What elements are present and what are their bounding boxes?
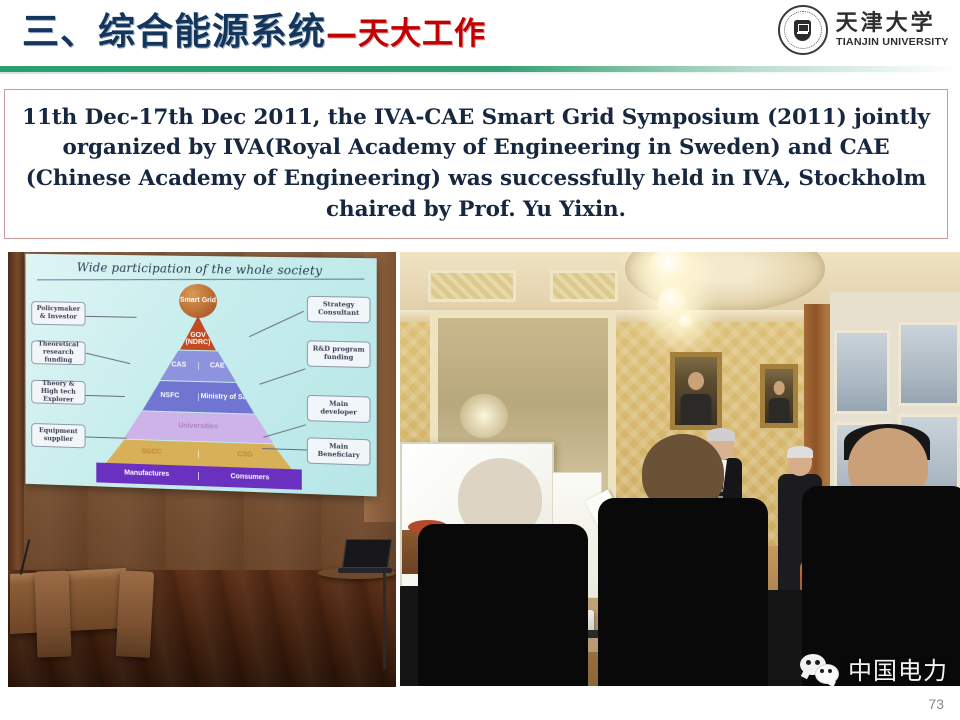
watermark-text: 中国电力 [848, 651, 948, 686]
callout-main-beneficiary: Main Beneficiary [307, 437, 371, 465]
wechat-watermark: 中国电力 [800, 651, 948, 686]
callout-main-developer: Main developer [307, 395, 371, 423]
portrait-body [680, 394, 711, 425]
connector-line [249, 311, 304, 337]
symposium-hall-scene [400, 252, 960, 686]
tier-label: CAE [198, 362, 236, 370]
university-seal-icon [778, 5, 828, 55]
logo-name-en: TIANJIN UNIVERSITY [836, 37, 949, 48]
chair [35, 570, 72, 657]
tier-label: SGCC [106, 447, 198, 457]
window-pane [898, 322, 960, 406]
person-hair [787, 446, 813, 458]
tier-label: GOV (NDRC) [180, 331, 216, 346]
laptop-stand-leg [383, 573, 386, 669]
tier-label: Universities [124, 421, 274, 433]
mirrored-chandelier-reflection [460, 394, 508, 438]
connector-line [86, 436, 127, 438]
wechat-icon [800, 654, 840, 684]
slide-heading: Wide participation of the whole society [31, 258, 370, 279]
callout-equipment-supplier: Equipment supplier [31, 423, 85, 448]
caption-box: 11th Dec-17th Dec 2011, the IVA-CAE Smar… [4, 89, 948, 239]
lecture-room-scene: Wide participation of the whole society … [8, 252, 396, 687]
connector-line [263, 424, 306, 437]
connector-line [86, 353, 130, 364]
logo-name-cn: 天津大学 [836, 12, 946, 34]
callout-theory-explorer: Theory & High tech Explorer [31, 380, 85, 405]
portrait-body [769, 398, 790, 423]
photo-row: Wide participation of the whole society … [0, 252, 960, 688]
pyramid-tier-academies: CAS CAE [160, 350, 236, 382]
chair [116, 570, 154, 658]
audience-member [418, 524, 588, 686]
window-pane [834, 330, 890, 414]
wechat-eye [806, 660, 811, 665]
callout-strategy-consultant: Strategy Consultant [307, 296, 371, 324]
caption-text: 11th Dec-17th Dec 2011, the IVA-CAE Smar… [5, 103, 947, 225]
tier-label: CAS [160, 361, 198, 369]
connector-line [260, 368, 306, 384]
tier-label: CSG [198, 450, 291, 460]
page-title: 三、综合能源系统—天大工作 [22, 6, 486, 60]
page-title-main: 三、综合能源系统 [22, 10, 326, 53]
callout-rd-program-funding: R&D program funding [307, 340, 371, 368]
wall-portrait [670, 352, 722, 430]
tier-label: Manufactures [96, 469, 198, 480]
wall-molding-panel [428, 270, 516, 302]
pyramid-tier-funding: NSFC Ministry of S&T [142, 381, 254, 414]
tier-label: NSFC [142, 392, 198, 401]
wall-molding-panel [550, 270, 618, 302]
tier-label: Ministry of S&T [198, 393, 254, 402]
page-number: 73 [928, 696, 944, 712]
wechat-eye [828, 669, 832, 673]
projected-slide: Wide participation of the whole society … [25, 254, 376, 497]
smart-grid-node: Smart Grid [179, 284, 217, 319]
projection-screen: Wide participation of the whole society … [25, 254, 376, 497]
logo-text: 天津大学 TIANJIN UNIVERSITY [836, 12, 946, 48]
page-title-sub: —天大工作 [326, 16, 486, 52]
pyramid-tier-gov: GOV (NDRC) [180, 316, 216, 351]
photo-lecture-room: Wide participation of the whole society … [8, 252, 396, 687]
photo-symposium-hall [400, 252, 960, 686]
portrait-face [688, 372, 704, 390]
header-divider-shadow [0, 72, 960, 74]
wechat-bubble-small [815, 664, 839, 684]
pyramid-diagram: Smart Grid GOV (NDRC) CAS CAE NSFC Minis… [25, 279, 376, 493]
chandelier-light [678, 314, 692, 330]
pyramid-tier-universities: Universities [124, 411, 274, 443]
callout-theoretical-funding: Theoretical research funding [31, 340, 85, 365]
audience-member [598, 498, 768, 686]
tier-label: Consumers [198, 472, 301, 483]
speaker-hair [707, 428, 735, 441]
wechat-eye [820, 669, 824, 673]
wechat-eye [815, 660, 820, 665]
connector-line [86, 316, 137, 318]
slide-header: 三、综合能源系统—天大工作 天津大学 TIANJIN UNIVERSITY [0, 0, 960, 66]
callout-policymaker: Policymaker & Investor [31, 301, 85, 326]
wall-portrait [760, 364, 798, 428]
laptop [338, 539, 392, 571]
portrait-face [774, 381, 785, 395]
seal-shield-icon [794, 20, 811, 41]
tianjin-university-logo: 天津大学 TIANJIN UNIVERSITY [778, 4, 946, 56]
connector-line [86, 395, 125, 397]
